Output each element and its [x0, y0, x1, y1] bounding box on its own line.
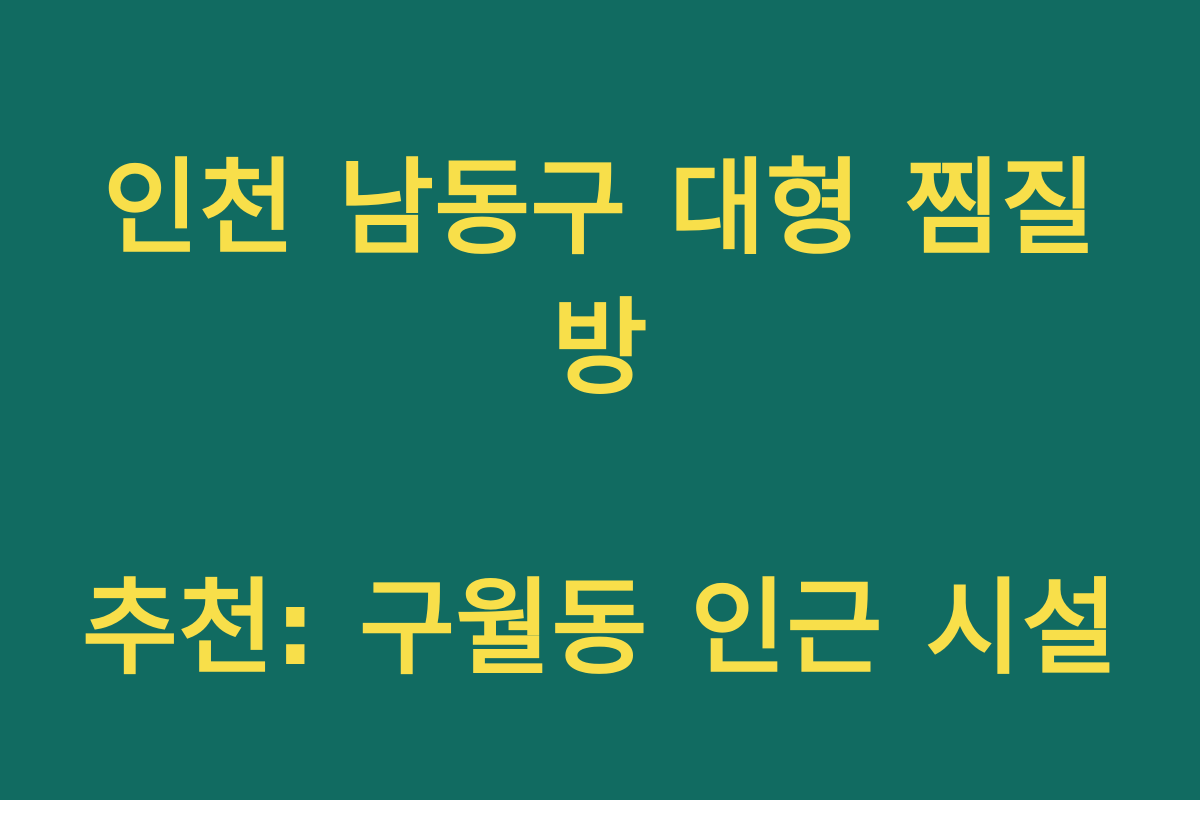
page-title-line-2: 추천: 구월동 인근 시설 — [60, 558, 1140, 698]
page-title: 인천 남동구 대형 찜질방 추천: 구월동 인근 시설 — [0, 0, 1200, 838]
page-title-line-1: 인천 남동구 대형 찜질방 — [60, 138, 1140, 418]
title-card: 인천 남동구 대형 찜질방 추천: 구월동 인근 시설 — [0, 0, 1200, 800]
